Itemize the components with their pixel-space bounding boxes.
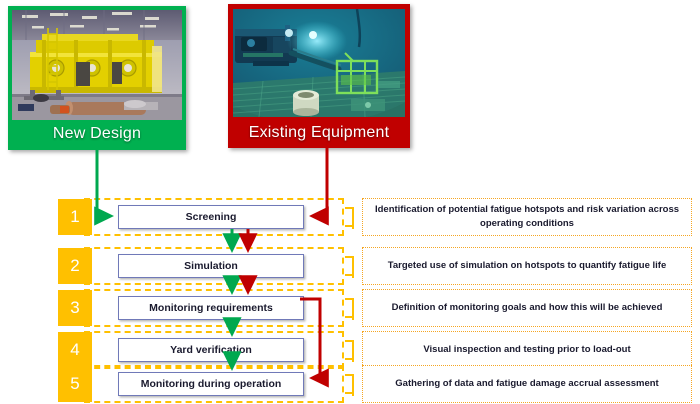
desc-connector-bracket-3	[345, 298, 354, 318]
step-description-3: Definition of monitoring goals and how t…	[362, 289, 692, 327]
flow-stage-box-simulation[interactable]: Simulation	[118, 254, 304, 278]
flow-row-4: 4 Yard verification	[58, 331, 344, 369]
desc-connector-bracket-1	[345, 207, 354, 227]
step-description-1: Identification of potential fatigue hots…	[362, 198, 692, 236]
step-description-2: Targeted use of simulation on hotspots t…	[362, 247, 692, 285]
desc-connector-bracket-5	[345, 374, 354, 394]
desc-connector-bracket-2	[345, 256, 354, 276]
step-description-5: Gathering of data and fatigue damage acc…	[362, 365, 692, 403]
source-panel-new-design[interactable]: New Design	[8, 6, 186, 150]
underwater-rov-subsea-structure-photo	[233, 9, 405, 117]
flow-stage-box-monitoring-requirements[interactable]: Monitoring requirements	[118, 296, 304, 320]
flow-row-3: 3 Monitoring requirements	[58, 289, 344, 327]
source-panel-existing-equipment[interactable]: Existing Equipment	[228, 4, 410, 148]
step-number-badge-4: 4	[58, 332, 92, 368]
step-number-badge-3: 3	[58, 290, 92, 326]
source-panel-existing-equipment-label: Existing Equipment	[228, 118, 410, 148]
source-panel-new-design-label: New Design	[8, 118, 186, 150]
step-description-4: Visual inspection and testing prior to l…	[362, 331, 692, 369]
flow-stage-box-monitoring-during-operation[interactable]: Monitoring during operation	[118, 372, 304, 396]
flow-stage-box-yard-verification[interactable]: Yard verification	[118, 338, 304, 362]
step-number-badge-5: 5	[58, 366, 92, 402]
subsea-module-in-warehouse-photo	[12, 10, 182, 120]
desc-connector-bracket-4	[345, 340, 354, 360]
flow-stage-box-screening[interactable]: Screening	[118, 205, 304, 229]
flow-row-5: 5 Monitoring during operation	[58, 365, 344, 403]
step-number-badge-1: 1	[58, 199, 92, 235]
flow-row-1: 1 Screening	[58, 198, 344, 236]
step-number-badge-2: 2	[58, 248, 92, 284]
fatigue-management-workflow-diagram: New Design	[0, 0, 700, 404]
flow-row-2: 2 Simulation	[58, 247, 344, 285]
